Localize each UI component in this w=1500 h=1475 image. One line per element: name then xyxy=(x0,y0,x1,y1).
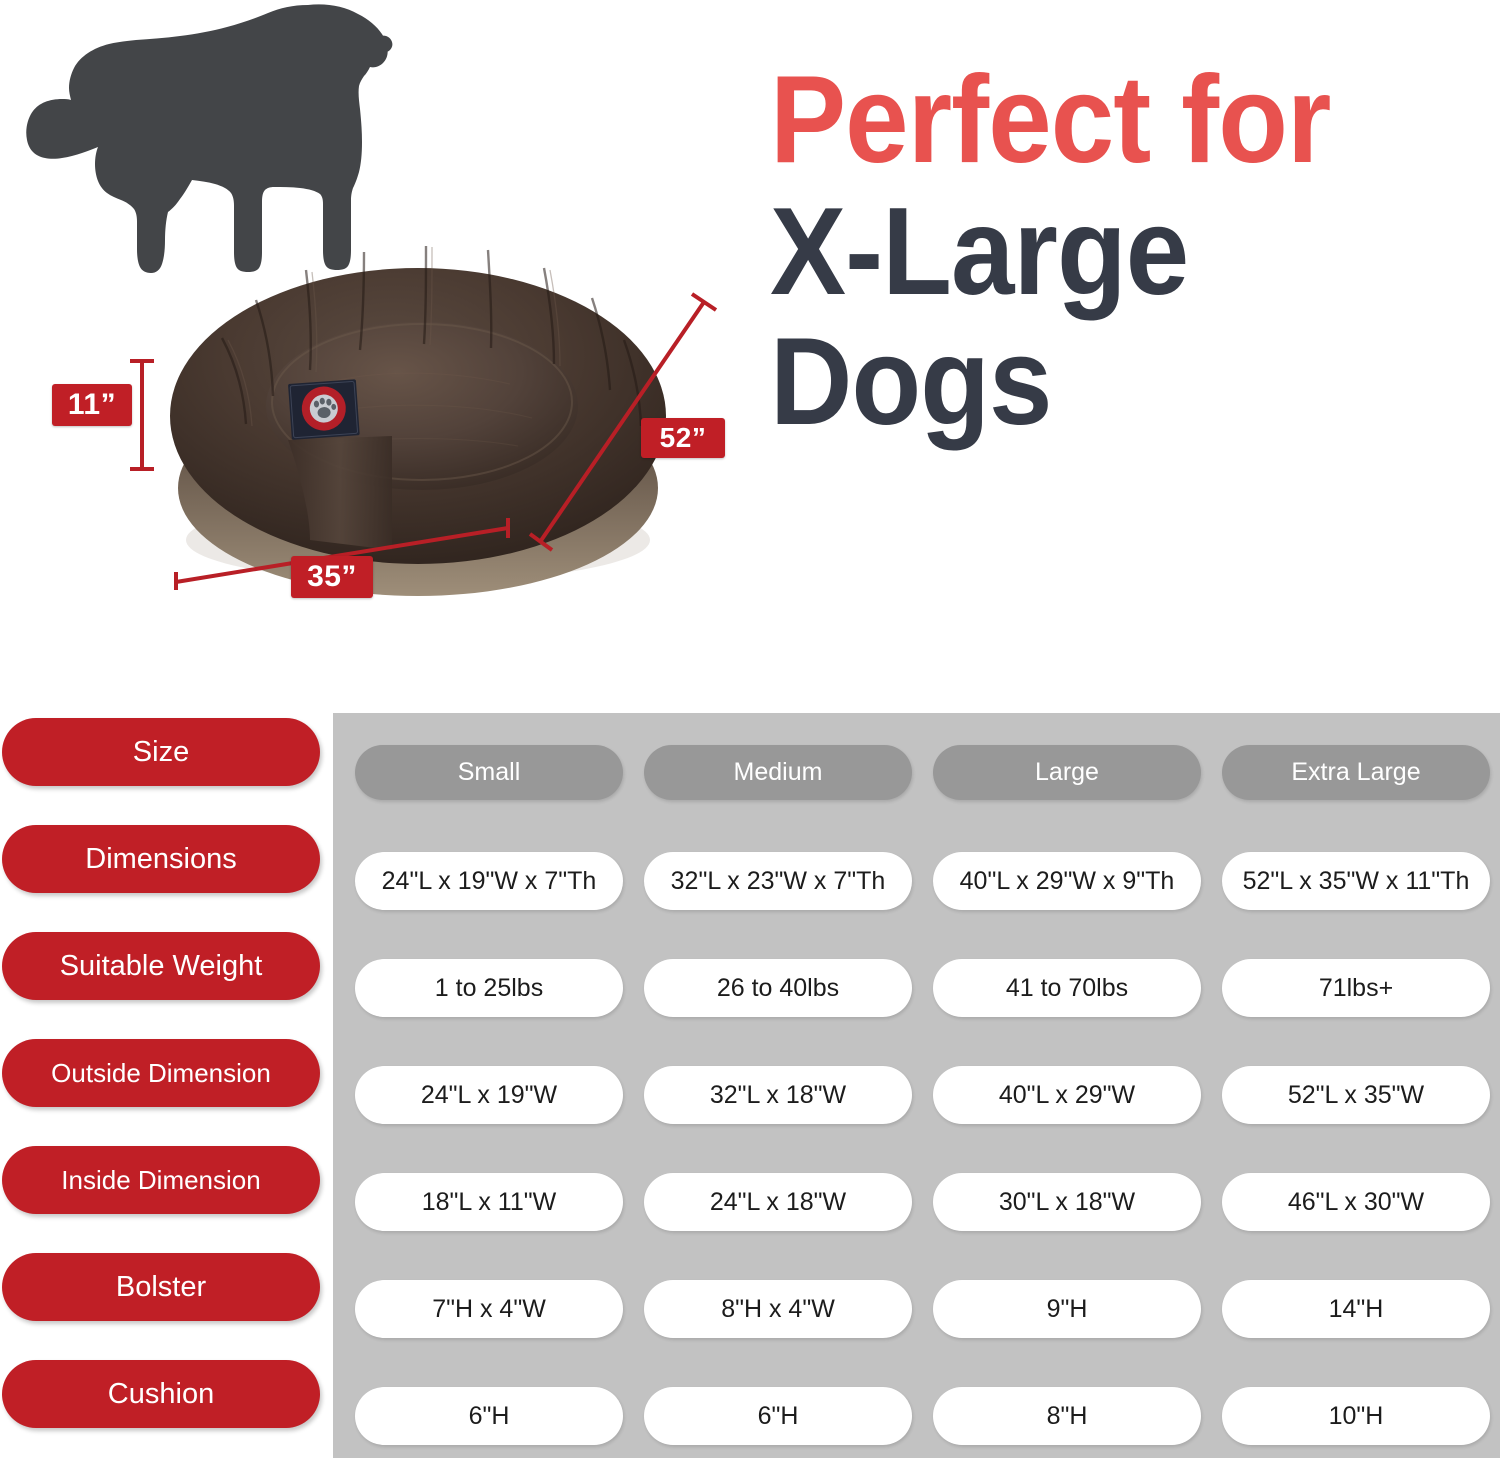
cell-bolster-large: 9"H xyxy=(933,1280,1201,1338)
cell-dimensions-large: 40"L x 29"W x 9"Th xyxy=(933,852,1201,910)
row-label-column: Size Dimensions Suitable Weight Outside … xyxy=(0,713,325,1475)
column-header-small: Small xyxy=(355,745,623,800)
cell-weight-medium: 26 to 40lbs xyxy=(644,959,912,1017)
headline-line-2: X-Large xyxy=(770,194,1432,312)
column-header-large: Large xyxy=(933,745,1201,800)
cell-dimensions-small: 24"L x 19"W x 7"Th xyxy=(355,852,623,910)
cell-weight-extra-large: 71lbs+ xyxy=(1222,959,1490,1017)
cell-cushion-medium: 6"H xyxy=(644,1387,912,1445)
cell-outside-small: 24"L x 19"W xyxy=(355,1066,623,1124)
cell-cushion-extra-large: 10"H xyxy=(1222,1387,1490,1445)
cell-outside-large: 40"L x 29"W xyxy=(933,1066,1201,1124)
cell-weight-small: 1 to 25lbs xyxy=(355,959,623,1017)
cell-bolster-extra-large: 14"H xyxy=(1222,1280,1490,1338)
callout-width-badge: 35” xyxy=(291,556,373,598)
brand-label-majestic-pet xyxy=(288,379,360,440)
spec-table: Size Dimensions Suitable Weight Outside … xyxy=(0,713,1500,1475)
cell-bolster-small: 7"H x 4"W xyxy=(355,1280,623,1338)
row-label-size: Size xyxy=(2,718,320,786)
hero-section: 11” 35” 52” Perfect for X-Large Dogs xyxy=(0,0,1500,713)
dimension-line-height xyxy=(128,358,156,472)
headline-line-3: Dogs xyxy=(770,324,1432,442)
column-header-medium: Medium xyxy=(644,745,912,800)
cell-bolster-medium: 8"H x 4"W xyxy=(644,1280,912,1338)
cell-cushion-small: 6"H xyxy=(355,1387,623,1445)
row-label-dimensions: Dimensions xyxy=(2,825,320,893)
callout-diagonal-badge: 52” xyxy=(641,418,725,458)
cell-weight-large: 41 to 70lbs xyxy=(933,959,1201,1017)
cell-inside-large: 30"L x 18"W xyxy=(933,1173,1201,1231)
cell-outside-extra-large: 52"L x 35"W xyxy=(1222,1066,1490,1124)
row-label-inside-dimension: Inside Dimension xyxy=(2,1146,320,1214)
row-label-bolster: Bolster xyxy=(2,1253,320,1321)
cell-inside-medium: 24"L x 18"W xyxy=(644,1173,912,1231)
column-header-extra-large: Extra Large xyxy=(1222,745,1490,800)
headline-line-1: Perfect for xyxy=(770,62,1432,180)
callout-height-badge: 11” xyxy=(52,384,132,426)
headline-block: Perfect for X-Large Dogs xyxy=(770,62,1490,441)
row-label-cushion: Cushion xyxy=(2,1360,320,1428)
cell-inside-small: 18"L x 11"W xyxy=(355,1173,623,1231)
row-label-outside-dimension: Outside Dimension xyxy=(2,1039,320,1107)
cell-outside-medium: 32"L x 18"W xyxy=(644,1066,912,1124)
cell-dimensions-medium: 32"L x 23"W x 7"Th xyxy=(644,852,912,910)
row-label-suitable-weight: Suitable Weight xyxy=(2,932,320,1000)
cell-dimensions-extra-large: 52"L x 35"W x 11"Th xyxy=(1222,852,1490,910)
cell-cushion-large: 8"H xyxy=(933,1387,1201,1445)
cell-inside-extra-large: 46"L x 30"W xyxy=(1222,1173,1490,1231)
